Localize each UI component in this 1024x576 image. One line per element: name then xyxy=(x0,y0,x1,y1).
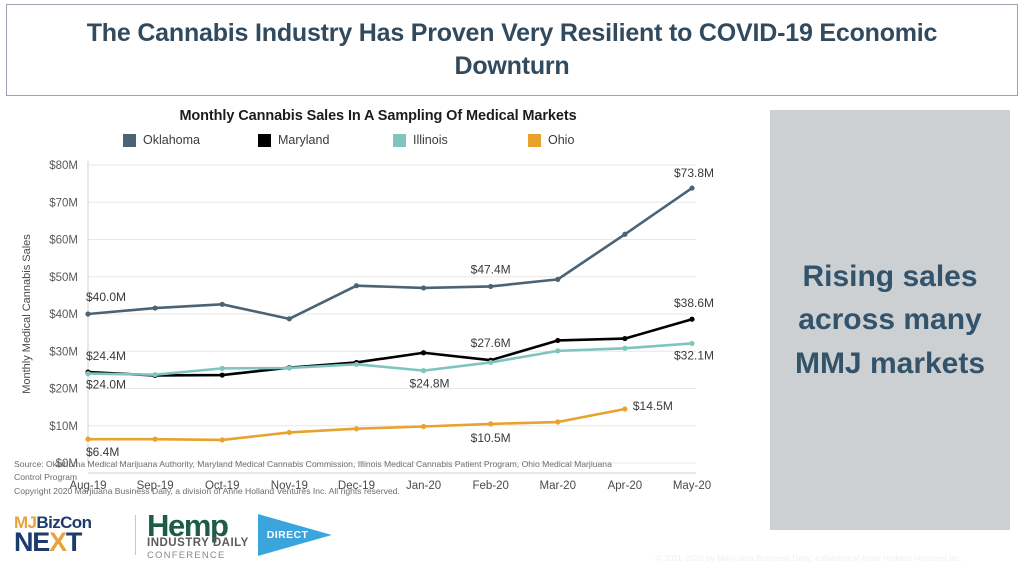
data-point-label: $32.1M xyxy=(674,348,714,362)
chart-legend: OklahomaMarylandIllinoisOhio xyxy=(8,133,748,147)
data-point-marker xyxy=(421,350,426,355)
data-point-marker xyxy=(220,302,225,307)
hemp-subtitle-industry-daily: INDUSTRY DAILY xyxy=(147,538,249,550)
data-point-marker xyxy=(153,305,158,310)
data-point-marker xyxy=(287,365,292,370)
data-point-marker xyxy=(421,368,426,373)
callout-panel: Rising sales across many MMJ markets xyxy=(770,110,1010,530)
series-line-oklahoma xyxy=(88,188,692,319)
data-point-marker xyxy=(689,317,694,322)
legend-swatch-icon xyxy=(123,134,136,147)
data-point-marker xyxy=(488,284,493,289)
data-point-marker xyxy=(689,185,694,190)
data-point-label: $14.5M xyxy=(633,399,673,413)
data-point-label: $24.0M xyxy=(86,378,126,392)
legend-item-ohio[interactable]: Ohio xyxy=(528,133,663,147)
logo-divider xyxy=(135,515,136,555)
data-point-label: $38.6M xyxy=(674,296,714,310)
legend-swatch-icon xyxy=(258,134,271,147)
source-line-2: Control Program xyxy=(14,471,734,484)
source-line-3: Copyright 2020 Marjiuana Business Daily,… xyxy=(14,485,734,498)
y-axis-tick-label: $50M xyxy=(49,272,78,284)
data-point-marker xyxy=(354,362,359,367)
legend-label: Maryland xyxy=(278,133,329,147)
legend-label: Illinois xyxy=(413,133,448,147)
chart-title: Monthly Cannabis Sales In A Sampling Of … xyxy=(8,108,748,124)
source-line-1: Source: Oklahoma Medical Marijuana Autho… xyxy=(14,458,734,471)
data-point-marker xyxy=(287,316,292,321)
direct-label: DIRECT xyxy=(267,529,308,541)
y-axis-tick-label: $40M xyxy=(49,309,78,321)
y-axis-tick-label: $20M xyxy=(49,384,78,396)
data-point-marker xyxy=(220,437,225,442)
mjbizcon-next-logo: MJBizCon NEXT xyxy=(14,514,124,556)
data-point-marker xyxy=(689,341,694,346)
next-ne-text: NE xyxy=(14,527,49,557)
data-point-label: $24.4M xyxy=(86,349,126,363)
callout-text: Rising sales across many MMJ markets xyxy=(786,255,994,386)
logo-row: MJBizCon NEXT Hemp INDUSTRY DAILY CONFER… xyxy=(14,507,344,563)
data-point-marker xyxy=(85,437,90,442)
legend-label: Ohio xyxy=(548,133,574,147)
series-line-ohio xyxy=(88,409,625,440)
data-point-marker xyxy=(622,346,627,351)
legend-swatch-icon xyxy=(393,134,406,147)
data-point-marker xyxy=(421,424,426,429)
legend-label: Oklahoma xyxy=(143,133,200,147)
direct-play-icon: DIRECT xyxy=(258,510,332,560)
data-point-marker xyxy=(85,311,90,316)
footer-copyright: © 2011-2020 by Marijuana Business Daily,… xyxy=(600,553,1018,563)
hemp-subtitle-conference: CONFERENCE xyxy=(147,551,249,561)
legend-item-oklahoma[interactable]: Oklahoma xyxy=(123,133,258,147)
line-chart-svg: $0M$10M$20M$30M$40M$50M$60M$70M$80MMonth… xyxy=(8,151,748,501)
data-point-label: $40.0M xyxy=(86,290,126,304)
series-line-illinois xyxy=(88,343,692,374)
data-point-label: $10.5M xyxy=(471,431,511,445)
legend-item-maryland[interactable]: Maryland xyxy=(258,133,393,147)
data-point-label: $47.4M xyxy=(471,262,511,276)
data-point-marker xyxy=(622,336,627,341)
next-x-text: X xyxy=(49,527,66,557)
data-point-marker xyxy=(354,283,359,288)
data-point-marker xyxy=(555,348,560,353)
data-point-marker xyxy=(153,437,158,442)
data-point-label: $24.8M xyxy=(410,377,450,391)
y-axis-tick-label: $60M xyxy=(49,235,78,247)
plot-area: $0M$10M$20M$30M$40M$50M$60M$70M$80MMonth… xyxy=(8,151,748,501)
y-axis-title: Monthly Medical Cannabis Sales xyxy=(21,234,33,394)
data-point-marker xyxy=(287,430,292,435)
y-axis-tick-label: $70M xyxy=(49,197,78,209)
slide-title-banner: The Cannabis Industry Has Proven Very Re… xyxy=(6,4,1018,96)
data-point-marker xyxy=(555,419,560,424)
data-point-marker xyxy=(220,372,225,377)
data-point-marker xyxy=(153,372,158,377)
y-axis-tick-label: $30M xyxy=(49,346,78,358)
data-point-label: $73.8M xyxy=(674,166,714,180)
data-point-marker xyxy=(85,371,90,376)
data-point-marker xyxy=(421,285,426,290)
chart-panel: Monthly Cannabis Sales In A Sampling Of … xyxy=(8,100,748,500)
y-axis-tick-label: $80M xyxy=(49,160,78,172)
data-point-marker xyxy=(354,426,359,431)
page-title: The Cannabis Industry Has Proven Very Re… xyxy=(47,17,977,84)
source-note: Source: Oklahoma Medical Marijuana Autho… xyxy=(14,458,734,498)
next-t-text: T xyxy=(66,527,81,557)
data-point-marker xyxy=(488,360,493,365)
data-point-marker xyxy=(220,366,225,371)
y-axis-tick-label: $10M xyxy=(49,421,78,433)
legend-item-illinois[interactable]: Illinois xyxy=(393,133,528,147)
data-point-label: $27.6M xyxy=(471,336,511,350)
mjbizcon-next-wordmark: NEXT xyxy=(14,529,124,556)
data-point-marker xyxy=(622,232,627,237)
legend-swatch-icon xyxy=(528,134,541,147)
hemp-industry-daily-logo: Hemp INDUSTRY DAILY CONFERENCE xyxy=(147,510,249,560)
data-point-marker xyxy=(555,277,560,282)
data-point-marker xyxy=(488,421,493,426)
data-point-marker xyxy=(622,406,627,411)
data-point-marker xyxy=(555,338,560,343)
